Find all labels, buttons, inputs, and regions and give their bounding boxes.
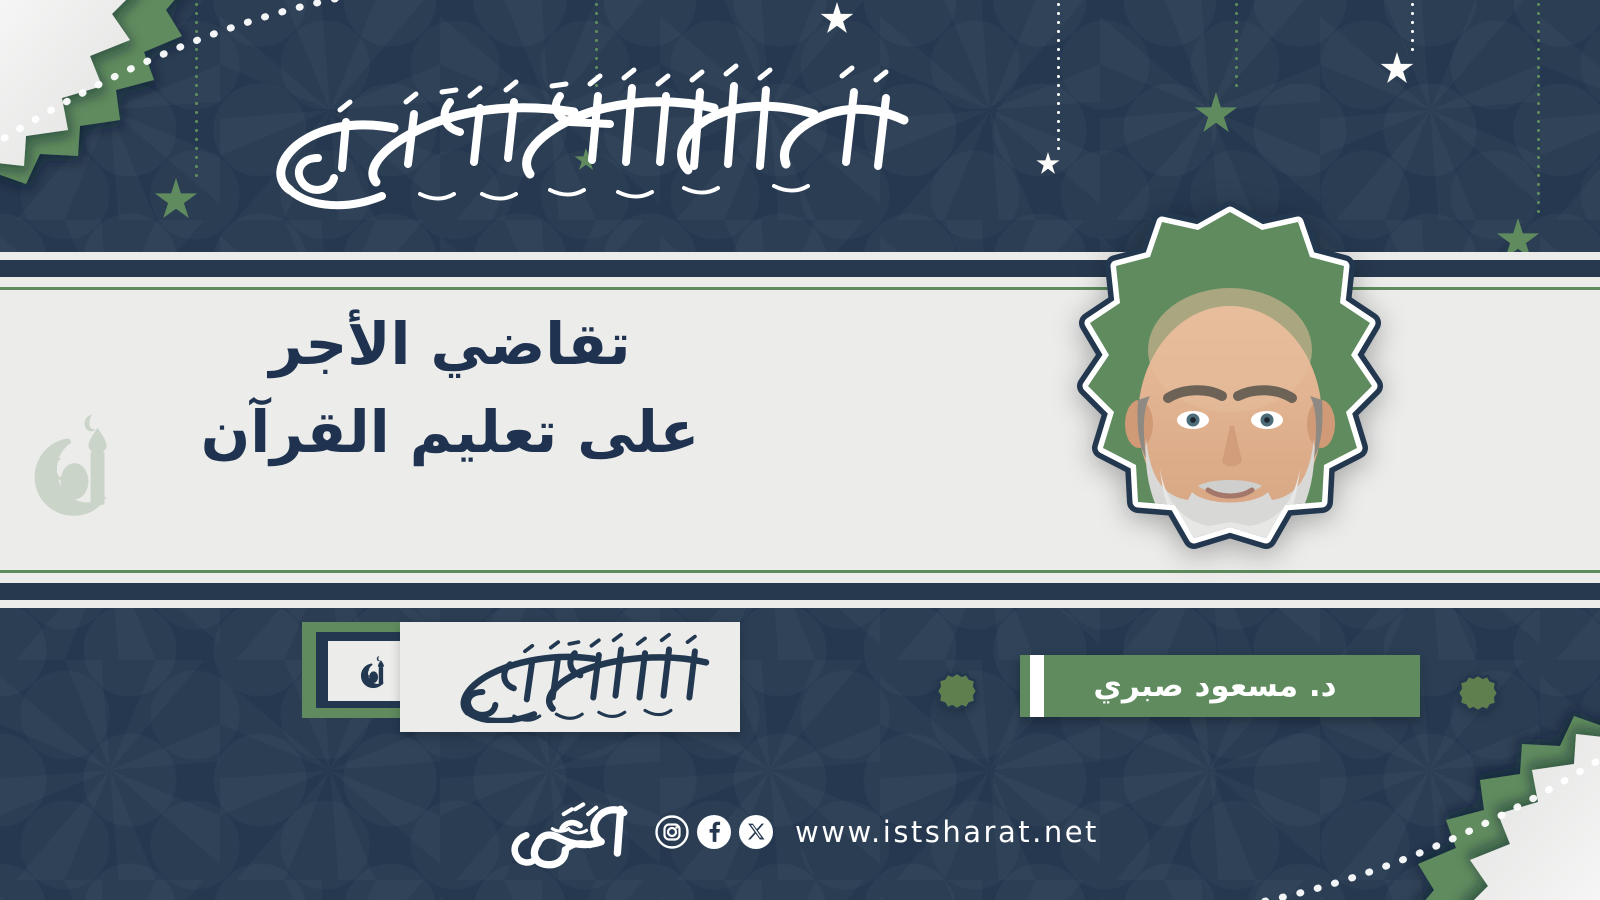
footer-logo-calligraphy <box>501 793 633 871</box>
hanging-star-1 <box>196 0 198 222</box>
star-icon <box>1194 92 1238 136</box>
star-icon <box>820 2 854 36</box>
social-links[interactable] <box>655 815 773 849</box>
category-badge <box>302 622 740 740</box>
facebook-icon[interactable] <box>697 815 731 849</box>
title-line-2: على تعليم القرآن <box>140 388 760 476</box>
header-calligraphy <box>214 62 934 212</box>
star-icon <box>1036 152 1060 176</box>
hanging-star-6 <box>1412 0 1414 86</box>
site-url[interactable]: www.istsharat.net <box>795 815 1099 849</box>
badge-text-box <box>400 622 740 732</box>
star-icon <box>1380 52 1414 86</box>
hanging-star-4 <box>1058 0 1060 176</box>
star-icon <box>154 178 198 222</box>
hanging-star-5 <box>1236 0 1238 136</box>
badge-calligraphy <box>407 631 733 723</box>
speaker-name: د. مسعود صبري <box>1093 668 1346 704</box>
instagram-icon[interactable] <box>655 815 689 849</box>
rosette-decoration-right-icon <box>1457 672 1499 714</box>
mosque-crescent-icon <box>359 649 393 693</box>
title-line-1: تقاضي الأجر <box>140 300 760 388</box>
rosette-decoration-left-icon <box>936 670 978 712</box>
mosque-crescent-watermark-icon <box>28 402 136 522</box>
hanging-star-7 <box>1538 0 1540 262</box>
footer: www.istsharat.net <box>0 792 1600 872</box>
x-twitter-icon[interactable] <box>739 815 773 849</box>
poster-canvas: تقاضي الأجر على تعليم القرآن <box>0 0 1600 900</box>
torn-paper-corner-top-left <box>0 0 220 240</box>
speaker-name-plate: د. مسعود صبري <box>1020 655 1420 717</box>
speaker-portrait <box>1010 200 1450 640</box>
hanging-star-3 <box>852 0 854 36</box>
main-title: تقاضي الأجر على تعليم القرآن <box>140 300 760 476</box>
